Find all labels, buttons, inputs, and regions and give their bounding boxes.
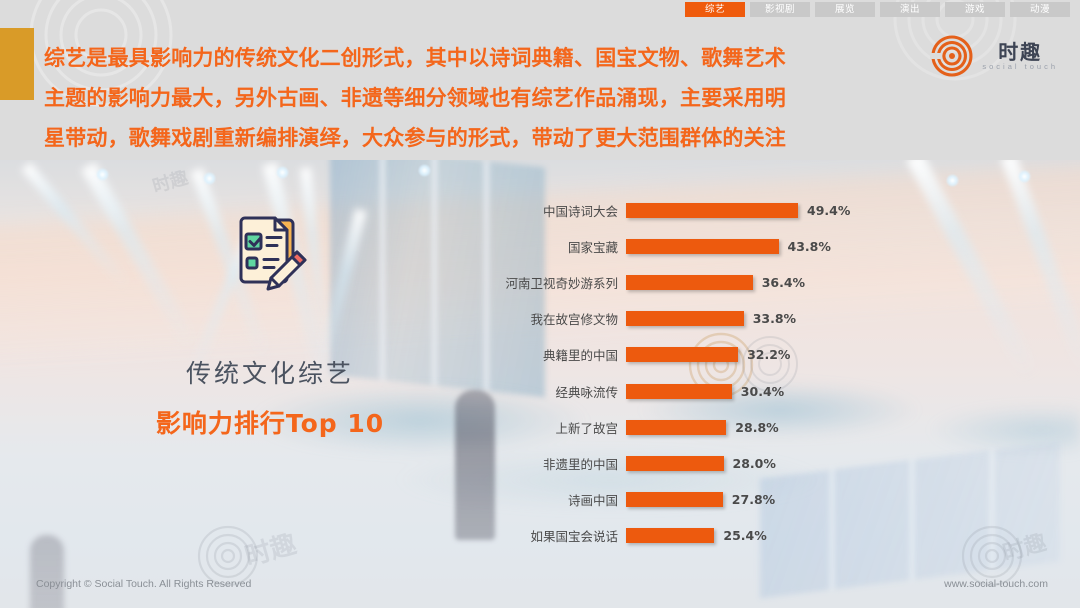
stage-light-dot	[276, 166, 289, 179]
chart-category-label: 典籍里的中国	[470, 345, 626, 364]
chart-bar	[626, 239, 779, 254]
clipboard-checklist-pencil-icon	[231, 212, 309, 298]
chart-category-label: 如果国宝会说话	[470, 526, 626, 545]
chart-value-label: 49.4%	[807, 203, 850, 218]
chart-bar	[626, 311, 744, 326]
chart-bar	[626, 384, 732, 399]
stage-light-dot	[203, 172, 216, 185]
chart-row: 典籍里的中国32.2%	[470, 337, 890, 373]
chart-bar-wrap	[626, 456, 724, 471]
stage-light-dot	[96, 168, 109, 181]
nav-tab-performance[interactable]: 演出	[880, 2, 940, 17]
chart-category-label: 经典咏流传	[470, 382, 626, 401]
stage-light-dot	[418, 164, 431, 177]
chart-value-label: 25.4%	[723, 528, 766, 543]
chart-bar-wrap	[626, 420, 726, 435]
footer-website-url[interactable]: www.social-touch.com	[944, 578, 1048, 590]
chart-row: 如果国宝会说话25.4%	[470, 518, 890, 554]
chart-bar-wrap	[626, 275, 753, 290]
nav-tab-anime[interactable]: 动漫	[1010, 2, 1070, 17]
left-title-panel: 传统文化综艺 影响力排行Top 10	[110, 212, 430, 440]
stage-light-dot	[946, 174, 959, 187]
chart-value-label: 36.4%	[762, 275, 805, 290]
chart-value-label: 28.8%	[735, 420, 778, 435]
chart-row: 中国诗词大会49.4%	[470, 192, 890, 228]
chart-category-label: 国家宝藏	[470, 237, 626, 256]
chart-category-label: 河南卫视奇妙游系列	[470, 273, 626, 292]
brand-logo: 时趣 social touch	[930, 34, 1058, 78]
gold-accent-block	[0, 28, 34, 100]
chart-bar	[626, 456, 724, 471]
panel-subtitle: 影响力排行Top 10	[156, 404, 384, 440]
panel-title: 传统文化综艺	[186, 360, 354, 388]
chart-bar-wrap	[626, 239, 779, 254]
chart-bar-wrap	[626, 528, 714, 543]
chart-row: 我在故宫修文物33.8%	[470, 301, 890, 337]
logo-english-name: social touch	[982, 63, 1058, 71]
slide-canvas: 时趣 时趣 时趣 综艺 影视剧 展览 演出 游戏 动漫 综艺是最具影响力的传统文…	[0, 0, 1080, 608]
headline-line-2: 主题的影响力最大，另外古画、非遗等细分领域也有综艺作品涌现，主要采用明	[44, 78, 934, 118]
chart-value-label: 28.0%	[733, 456, 776, 471]
chart-bar-wrap	[626, 384, 732, 399]
nav-tab-drama[interactable]: 影视剧	[750, 2, 810, 17]
headline-line-3: 星带动，歌舞戏剧重新编排演绎，大众参与的形式，带动了更大范围群体的关注	[44, 118, 934, 158]
chart-bar-wrap	[626, 203, 798, 218]
chart-row: 经典咏流传30.4%	[470, 373, 890, 409]
chart-bar-wrap	[626, 492, 723, 507]
nav-tab-variety[interactable]: 综艺	[685, 2, 745, 17]
chart-bar-wrap	[626, 347, 738, 362]
chart-bar	[626, 528, 714, 543]
chart-row: 国家宝藏43.8%	[470, 228, 890, 264]
top-navigation[interactable]: 综艺 影视剧 展览 演出 游戏 动漫	[685, 2, 1070, 17]
chart-bar	[626, 347, 738, 362]
chart-value-label: 30.4%	[741, 384, 784, 399]
headline-paragraph: 综艺是最具影响力的传统文化二创形式，其中以诗词典籍、国宝文物、歌舞艺术 主题的影…	[44, 38, 934, 158]
headline-line-1: 综艺是最具影响力的传统文化二创形式，其中以诗词典籍、国宝文物、歌舞艺术	[44, 38, 934, 78]
chart-category-label: 诗画中国	[470, 490, 626, 509]
stage-performer-secondary	[30, 535, 64, 608]
logo-wordmark: 时趣 social touch	[982, 42, 1058, 71]
chart-category-label: 我在故宫修文物	[470, 309, 626, 328]
chart-row: 非遗里的中国28.0%	[470, 445, 890, 481]
chart-row: 上新了故宫28.8%	[470, 409, 890, 445]
horizontal-bar-chart: 中国诗词大会49.4%国家宝藏43.8%河南卫视奇妙游系列36.4%我在故宫修文…	[470, 192, 890, 554]
chart-value-label: 33.8%	[753, 311, 796, 326]
chart-value-label: 27.8%	[732, 492, 775, 507]
nav-tab-exhibition[interactable]: 展览	[815, 2, 875, 17]
chart-bar	[626, 203, 798, 218]
chart-category-label: 非遗里的中国	[470, 454, 626, 473]
chart-value-label: 32.2%	[747, 347, 790, 362]
chart-bar-wrap	[626, 311, 744, 326]
footer-copyright: Copyright © Social Touch. All Rights Res…	[36, 578, 251, 590]
nav-tab-game[interactable]: 游戏	[945, 2, 1005, 17]
chart-category-label: 中国诗词大会	[470, 201, 626, 220]
chart-row: 河南卫视奇妙游系列36.4%	[470, 264, 890, 300]
concentric-spiral-icon	[930, 34, 974, 78]
chart-category-label: 上新了故宫	[470, 418, 626, 437]
logo-chinese-name: 时趣	[998, 42, 1042, 62]
stage-light-dot	[1018, 170, 1031, 183]
chart-bar	[626, 492, 723, 507]
chart-row: 诗画中国27.8%	[470, 482, 890, 518]
chart-value-label: 43.8%	[788, 239, 831, 254]
chart-bar	[626, 275, 753, 290]
chart-bar	[626, 420, 726, 435]
